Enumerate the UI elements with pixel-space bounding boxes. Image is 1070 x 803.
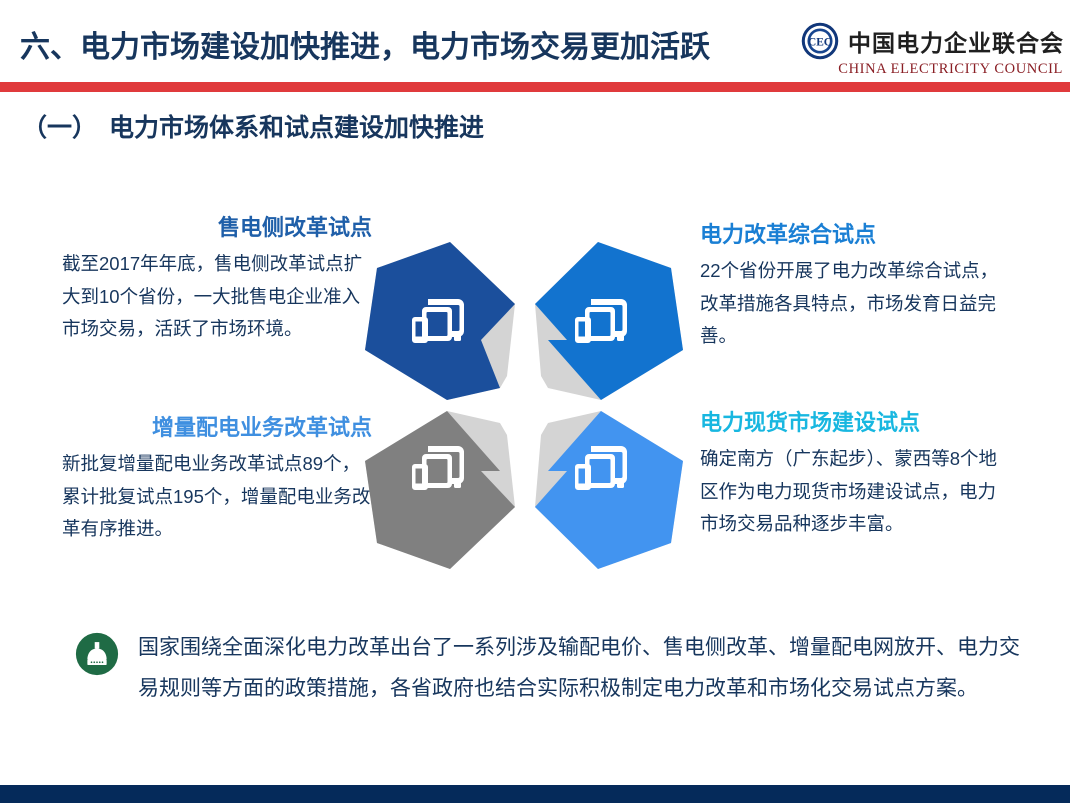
quadrant-body: 截至2017年年底，售电侧改革试点扩大到10个省份，一大批售电企业准入市场交易，… bbox=[62, 248, 372, 345]
segment-face-top-left bbox=[365, 242, 515, 400]
section-heading: （一）电力市场体系和试点建设加快推进 bbox=[22, 108, 484, 144]
footer-bar bbox=[0, 785, 1070, 803]
quadrant-title: 电力改革综合试点 bbox=[700, 222, 1010, 248]
header-red-divider bbox=[0, 82, 1070, 92]
quadrant-title: 电力现货市场建设试点 bbox=[700, 410, 1010, 436]
quadrant-body: 22个省份开展了电力改革综合试点，改革措施各具特点，市场发育日益完善。 bbox=[700, 255, 1010, 352]
svg-text:CEC: CEC bbox=[808, 37, 832, 49]
pinwheel-segment-top-left bbox=[365, 242, 515, 400]
quadrant-body: 确定南方（广东起步）、蒙西等8个地区作为电力现货市场建设试点，电力市场交易品种逐… bbox=[700, 443, 1010, 540]
logo-row: CEC 中国电力企业联合会 bbox=[801, 22, 1064, 60]
cec-emblem-icon: CEC bbox=[801, 22, 839, 60]
quadrant-bottom-right: 电力现货市场建设试点 确定南方（广东起步）、蒙西等8个地区作为电力现货市场建设试… bbox=[700, 410, 1010, 541]
section-title: 电力市场体系和试点建设加快推进 bbox=[109, 114, 484, 142]
logo-name-en: CHINA ELECTRICITY COUNCIL bbox=[838, 61, 1064, 78]
quadrant-bottom-left: 增量配电业务改革试点 新批复增量配电业务改革试点89个，累计批复试点195个，增… bbox=[62, 415, 372, 546]
quadrant-title: 增量配电业务改革试点 bbox=[62, 415, 372, 441]
plug-badge-icon bbox=[75, 632, 119, 676]
pinwheel-svg bbox=[355, 228, 695, 598]
page-title: 六、电力市场建设加快推进，电力市场交易更加活跃 bbox=[20, 22, 710, 66]
slide-header: 六、电力市场建设加快推进，电力市场交易更加活跃 CEC 中国电力企业联合会 CH… bbox=[0, 0, 1070, 82]
quadrant-body: 新批复增量配电业务改革试点89个，累计批复试点195个，增量配电业务改革有序推进… bbox=[62, 448, 372, 545]
slide: 六、电力市场建设加快推进，电力市场交易更加活跃 CEC 中国电力企业联合会 CH… bbox=[0, 0, 1070, 803]
section-number: （一） bbox=[22, 114, 97, 142]
footnote-block: 国家围绕全面深化电力改革出台了一系列涉及输配电价、售电侧改革、增量配电网放开、电… bbox=[75, 628, 1025, 710]
quadrant-top-right: 电力改革综合试点 22个省份开展了电力改革综合试点，改革措施各具特点，市场发育日… bbox=[700, 222, 1010, 353]
pinwheel-segment-bottom-left bbox=[365, 411, 515, 569]
footnote-text: 国家围绕全面深化电力改革出台了一系列涉及输配电价、售电侧改革、增量配电网放开、电… bbox=[138, 628, 1025, 710]
org-logo: CEC 中国电力企业联合会 CHINA ELECTRICITY COUNCIL bbox=[801, 22, 1064, 78]
logo-name-cn: 中国电力企业联合会 bbox=[848, 24, 1064, 58]
quadrant-top-left: 售电侧改革试点 截至2017年年底，售电侧改革试点扩大到10个省份，一大批售电企… bbox=[62, 215, 372, 346]
pinwheel-segment-top-right bbox=[535, 242, 683, 400]
quadrant-title: 售电侧改革试点 bbox=[62, 215, 372, 241]
pinwheel-segment-bottom-right bbox=[535, 411, 683, 569]
pinwheel-diagram bbox=[355, 228, 695, 598]
